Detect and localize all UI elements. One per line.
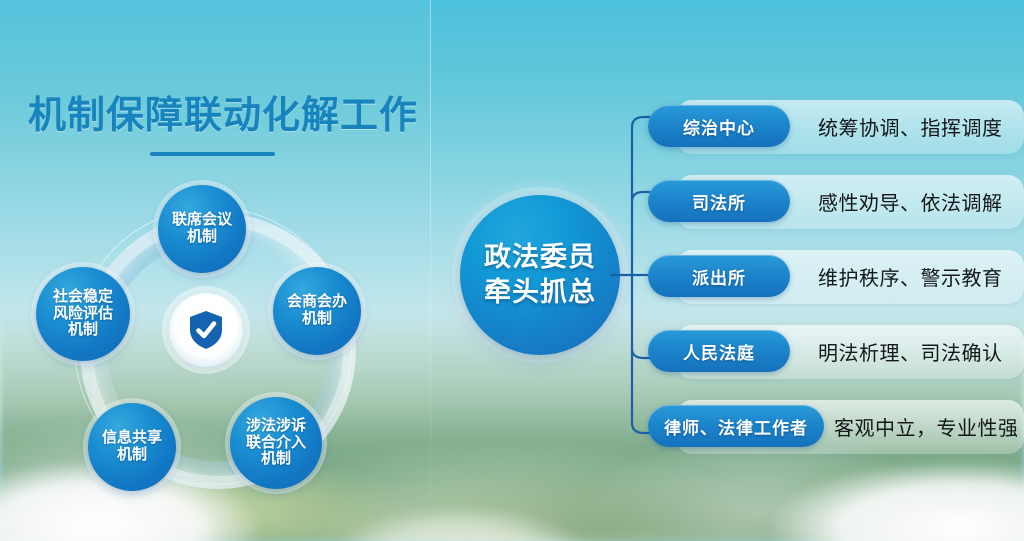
duty-text: 维护秩序、警示教育 [818, 255, 1003, 297]
unit-label: 司法所 [692, 189, 746, 214]
duty-text: 统筹协调、指挥调度 [818, 105, 1003, 147]
node-consult-handle[interactable]: 会商会办 机制 [273, 267, 361, 355]
node-label: 社会稳定 风险评估 机制 [53, 289, 113, 339]
unit-label: 人民法庭 [683, 339, 755, 364]
duty-row: 人民法庭 明法析理、司法确认 [648, 321, 1024, 396]
unit-pill-judicial-office[interactable]: 司法所 [648, 180, 790, 222]
unit-pill-lawyers[interactable]: 律师、法律工作者 [648, 405, 824, 447]
node-label: 信息共享 机制 [102, 430, 162, 464]
duty-text: 感性劝导、依法调解 [818, 180, 1003, 222]
unit-pill-zongzhi-center[interactable]: 综治中心 [648, 105, 790, 147]
node-joint-meeting[interactable]: 联席会议 机制 [158, 185, 246, 273]
unit-label: 派出所 [692, 264, 746, 289]
right-panel: 政法委员 牵头抓总 综治中心 统筹协调、指挥调度 [430, 0, 1024, 541]
unit-pill-police-station[interactable]: 派出所 [648, 255, 790, 297]
node-litigation-joint[interactable]: 涉法涉诉 联合介入 机制 [230, 397, 322, 489]
duty-text: 明法析理、司法确认 [818, 330, 1003, 372]
node-info-share[interactable]: 信息共享 机制 [88, 403, 176, 491]
infographic-slide: 机制保障联动化解工作 联席会议 机制 会商会办 机制 社会稳定 风险评估 机制 [0, 0, 1024, 541]
hub-line-2: 牵头抓总 [484, 275, 596, 310]
shield-check-icon [169, 293, 243, 367]
unit-pill-peoples-court[interactable]: 人民法庭 [648, 330, 790, 372]
hub-circle[interactable]: 政法委员 牵头抓总 [460, 195, 620, 355]
node-stability-risk[interactable]: 社会稳定 风险评估 机制 [36, 267, 130, 361]
unit-label: 律师、法律工作者 [664, 414, 808, 439]
duty-row: 律师、法律工作者 客观中立，专业性强 [648, 396, 1024, 471]
node-label: 联席会议 机制 [172, 212, 232, 246]
title-underline [150, 152, 275, 156]
duty-row: 派出所 维护秩序、警示教育 [648, 246, 1024, 321]
left-panel: 机制保障联动化解工作 联席会议 机制 会商会办 机制 社会稳定 风险评估 机制 [0, 0, 430, 541]
node-label: 涉法涉诉 联合介入 机制 [246, 418, 306, 468]
mechanism-wheel: 联席会议 机制 会商会办 机制 社会稳定 风险评估 机制 涉法涉诉 联合介入 机… [30, 185, 390, 505]
page-title: 机制保障联动化解工作 [28, 84, 418, 139]
duty-text: 客观中立，专业性强 [834, 405, 1019, 447]
duty-row: 综治中心 统筹协调、指挥调度 [648, 96, 1024, 171]
hub-line-1: 政法委员 [484, 240, 596, 275]
unit-label: 综治中心 [683, 114, 755, 139]
node-label: 会商会办 机制 [287, 294, 347, 328]
duty-list: 综治中心 统筹协调、指挥调度 司法所 感性劝导、依法调解 派出所 维护秩序、警示… [648, 96, 1024, 471]
duty-row: 司法所 感性劝导、依法调解 [648, 171, 1024, 246]
